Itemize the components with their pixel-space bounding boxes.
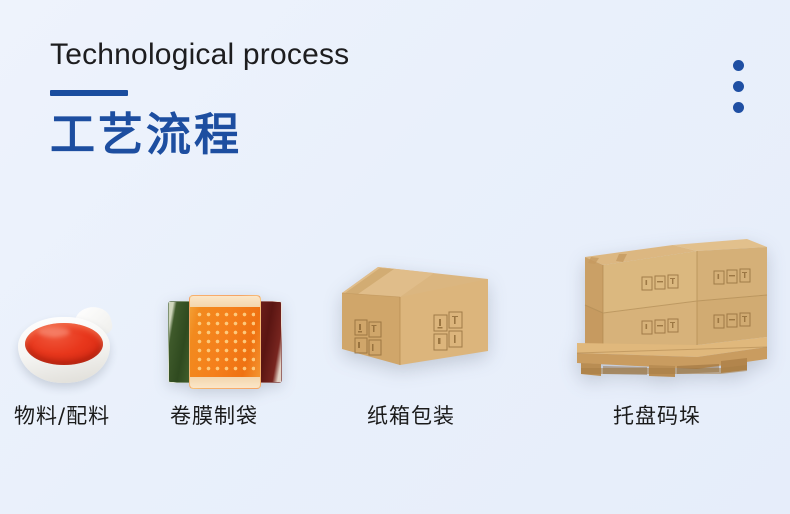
three-dots-vertical-icon	[733, 60, 744, 113]
flow-step-3-label: 纸箱包装	[367, 400, 455, 430]
flow-step-4-image	[568, 235, 772, 377]
flow-step-2-image	[163, 295, 285, 387]
title-underline-rule	[50, 90, 128, 96]
page-title-chinese: 工艺流程	[50, 110, 650, 160]
carton-box-icon	[338, 265, 493, 373]
palletized-boxes-icon	[571, 235, 769, 377]
page-title-english: Technological process	[50, 38, 650, 71]
pouch-orange	[189, 295, 261, 389]
film-pouches-icon	[165, 295, 283, 387]
flow-step-1-label: 物料/配料	[14, 400, 110, 430]
sauce-bowl-icon	[12, 301, 120, 387]
flow-step-2-label: 卷膜制袋	[170, 400, 258, 430]
flow-step-4-label: 托盘码垛	[613, 400, 701, 430]
header: Technological process 工艺流程	[50, 38, 650, 160]
flow-illustration-row	[0, 222, 790, 387]
flow-step-1-image	[6, 301, 126, 387]
dot-3	[733, 102, 744, 113]
pouch-contents-texture	[195, 310, 255, 374]
dot-1	[733, 60, 744, 71]
process-flow-banner: Technological process 工艺流程	[0, 0, 790, 514]
sauce-highlight	[38, 327, 70, 337]
dot-2	[733, 81, 744, 92]
flow-step-3-image	[330, 265, 500, 373]
